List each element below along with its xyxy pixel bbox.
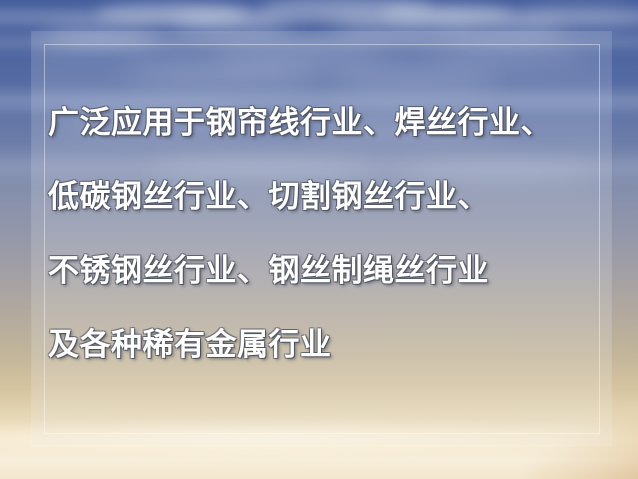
body-text-line-3: 不锈钢丝行业、钢丝制绳丝行业 bbox=[48, 234, 604, 308]
body-text-line-1: 广泛应用于钢帘线行业、焊丝行业、 bbox=[48, 86, 604, 160]
body-text-block: 广泛应用于钢帘线行业、焊丝行业、 低碳钢丝行业、切割钢丝行业、 不锈钢丝行业、钢… bbox=[48, 86, 604, 382]
body-text-line-4: 及各种稀有金属行业 bbox=[48, 308, 604, 382]
slide-canvas: 广泛应用于钢帘线行业、焊丝行业、 低碳钢丝行业、切割钢丝行业、 不锈钢丝行业、钢… bbox=[0, 0, 638, 479]
body-text-line-2: 低碳钢丝行业、切割钢丝行业、 bbox=[48, 160, 604, 234]
